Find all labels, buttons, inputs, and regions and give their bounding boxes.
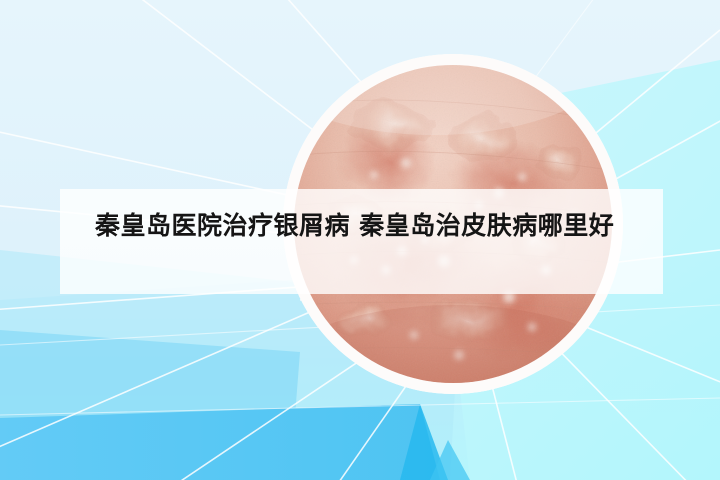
cover-image-canvas: 秦皇岛医院治疗银屑病 秦皇岛治皮肤病哪里好	[0, 0, 720, 480]
page-title: 秦皇岛医院治疗银屑病 秦皇岛治皮肤病哪里好	[95, 206, 640, 245]
